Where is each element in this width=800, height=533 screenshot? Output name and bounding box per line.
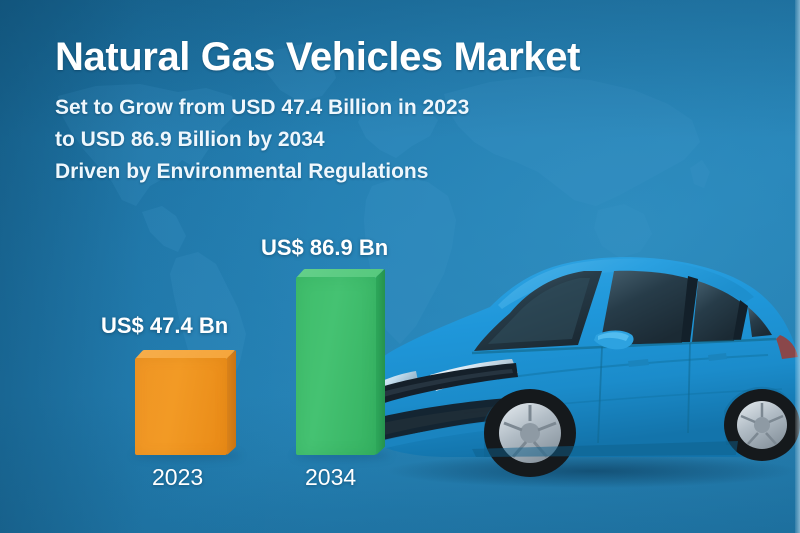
bar-category-label-2034: 2034 xyxy=(305,464,356,491)
bar-value-label-2023: US$ 47.4 Bn xyxy=(101,313,228,339)
bar-2034-front-face xyxy=(296,277,376,455)
headline-block: Natural Gas Vehicles Market Set to Grow … xyxy=(55,36,715,188)
car-illustration xyxy=(352,243,800,488)
page-subtitle: Set to Grow from USD 47.4 Billion in 202… xyxy=(55,78,715,188)
bar-shadow-2023 xyxy=(133,451,241,460)
bar-2023-side-face xyxy=(227,350,236,455)
bar-category-label-2023: 2023 xyxy=(152,464,203,491)
subtitle-line-1: Set to Grow from USD 47.4 Billion in 202… xyxy=(55,92,715,124)
bar-value-label-2034: US$ 86.9 Bn xyxy=(261,235,388,261)
page-title: Natural Gas Vehicles Market xyxy=(55,36,715,78)
bar-2023 xyxy=(135,358,227,455)
bar-2034 xyxy=(296,277,376,455)
subtitle-line-2: to USD 86.9 Billion by 2034 xyxy=(55,124,715,156)
canvas-right-edge xyxy=(795,0,800,533)
bar-2034-top-face xyxy=(296,269,384,278)
subtitle-line-3: Driven by Environmental Regulations xyxy=(55,156,715,188)
infographic-canvas: Natural Gas Vehicles Market Set to Grow … xyxy=(0,0,800,533)
bar-2034-side-face xyxy=(376,269,385,455)
bar-shadow-2034 xyxy=(294,451,390,460)
bar-2023-front-face xyxy=(135,358,227,455)
bar-2023-top-face xyxy=(135,350,235,359)
